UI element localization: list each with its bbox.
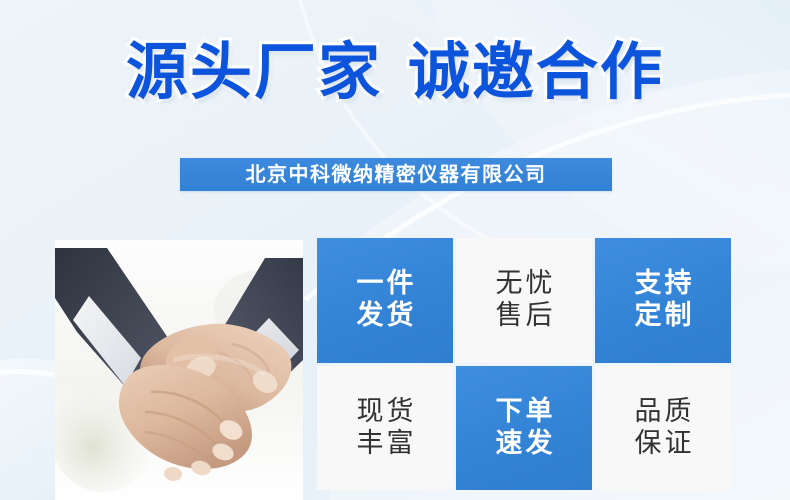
feature-tile: 下单 速发 <box>456 366 592 491</box>
feature-line-1: 一件 <box>354 268 417 300</box>
feature-line-1: 下单 <box>493 396 556 428</box>
feature-line-1: 支持 <box>632 268 695 300</box>
feature-line-2: 定制 <box>632 300 695 332</box>
promo-banner: 源头厂家诚邀合作 北京中科微纳精密仪器有限公司 <box>0 0 790 500</box>
feature-line-2: 发货 <box>354 300 417 332</box>
feature-tile: 一件 发货 <box>317 238 453 363</box>
headline-part-2: 诚邀合作 <box>408 38 664 107</box>
headline-part-1: 源头厂家 <box>126 38 382 107</box>
feature-line-2: 售后 <box>493 300 556 332</box>
feature-tile: 现货 丰富 <box>317 366 453 491</box>
feature-line-2: 丰富 <box>354 428 417 460</box>
feature-line-1: 品质 <box>632 396 695 428</box>
feature-line-1: 现货 <box>354 396 417 428</box>
company-name-label: 北京中科微纳精密仪器有限公司 <box>246 165 547 185</box>
feature-line-1: 无忧 <box>493 268 556 300</box>
page-title: 源头厂家诚邀合作 <box>0 42 790 104</box>
feature-tile: 无忧 售后 <box>456 238 592 363</box>
feature-line-2: 速发 <box>493 428 556 460</box>
feature-grid: 一件 发货 无忧 售后 支持 定制 现货 丰富 下单 速发 品质 保证 <box>317 238 731 490</box>
feature-tile: 品质 保证 <box>595 366 731 491</box>
feature-tile: 支持 定制 <box>595 238 731 363</box>
handshake-photo <box>55 240 303 500</box>
feature-line-2: 保证 <box>632 428 695 460</box>
company-name-bar: 北京中科微纳精密仪器有限公司 <box>180 158 612 191</box>
